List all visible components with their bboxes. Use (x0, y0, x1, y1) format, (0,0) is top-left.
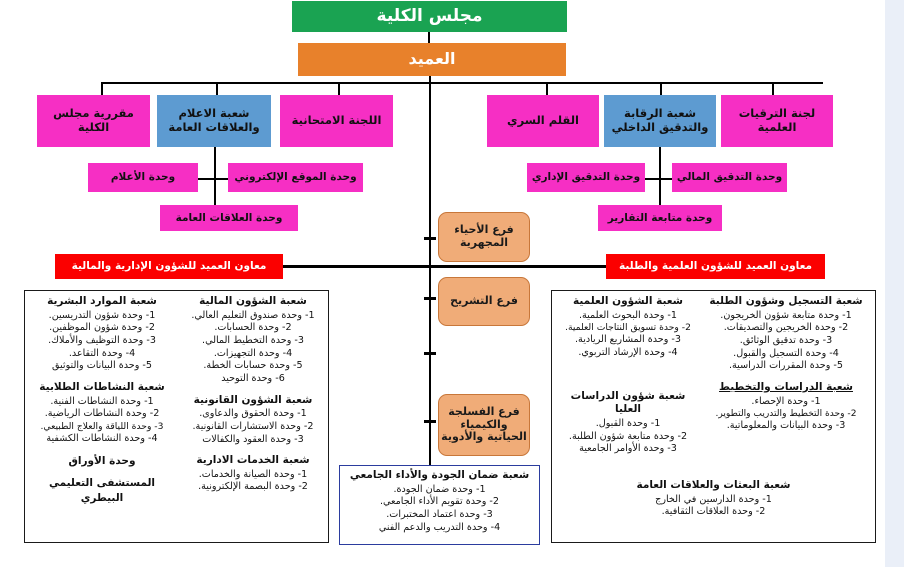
admin-panel-financial-column: شعبة الشؤون المالية 1- وحدة صندوق التعلي… (180, 295, 326, 494)
connector-dept-1 (424, 237, 436, 240)
list-item: 3- وحدة المشاريع الريادية. (556, 334, 700, 347)
list-item: 2- وحدة الحسابات. (180, 322, 326, 335)
admin-panel-hr-column: شعبة الموارد البشرية 1- وحدة شؤون التدري… (28, 295, 176, 506)
section-title-scientific-affairs: شعبة الشؤون العلمية (556, 295, 700, 309)
list-item: 4- وحدة التجهيزات. (180, 348, 326, 361)
page-edge-strip (885, 0, 904, 567)
subunit-box-reports-followup: وحدة متابعة التقارير (598, 205, 722, 231)
section-title-legal-affairs: شعبة الشؤون القانونية (180, 394, 326, 408)
list-item: 2- وحدة البصمة الإلكترونية. (180, 481, 326, 494)
list-item: 1- وحدة صندوق التعليم العالي. (180, 310, 326, 323)
list-item: 1- وحدة شؤون التدريسين. (28, 310, 176, 323)
list-item: 1- وحدة القبول. (556, 418, 700, 431)
list-item: 6- وحدة التوحيد (180, 373, 326, 386)
standalone-papers-unit: وحدة الأوراق (28, 454, 176, 469)
connector-drop-council-sec (101, 82, 103, 95)
unit-box-secret-pen: القلم السري (487, 95, 599, 147)
unit-box-internal-audit: شعبة الرقابة والتدقيق الداخلي (604, 95, 716, 147)
list-item: 1- وحدة ضمان الجودة. (343, 484, 536, 497)
section-title-registration-student-affairs: شعبة التسجيل وشؤون الطلبة (700, 295, 872, 309)
subunit-box-financial-audit: وحدة التدقيق المالي (672, 163, 787, 192)
connector-dept-3 (424, 352, 436, 355)
list-item: 1- وحدة متابعة شؤون الخريجون. (700, 310, 872, 323)
list-item: 2- وحدة النشاطات الرياضية. (28, 408, 176, 421)
unit-box-examination-committee: اللجنة الامتحانية (280, 95, 393, 147)
list-item: 3- وحدة العقود والكفالات (180, 434, 326, 447)
list-item: 2- وحدة العلاقات الثقافية. (556, 506, 871, 519)
list-item: 5- وحدة المقررات الدراسية. (700, 360, 872, 373)
list-item: 3- وحدة الأوامر الجامعية (556, 443, 700, 456)
department-box-microbiology: فرع الأحياء المجهرية (438, 212, 530, 262)
connector-media-branch (197, 178, 231, 180)
unit-box-media-public-relations: شعبة الاعلام والعلاقات العامة (157, 95, 271, 147)
list-item: 3- وحدة اعتماد المختبرات. (343, 509, 536, 522)
subunit-box-media: وحدة الأعلام (88, 163, 198, 192)
connector-drop-secret-pen (546, 82, 548, 95)
list-item: 3- وحدة التخطيط المالي. (180, 335, 326, 348)
connector-top-bus (101, 82, 823, 84)
section-title-higher-studies-affairs: شعبة شؤون الدراسات العليا (556, 390, 700, 417)
connector-drop-exam (338, 82, 340, 95)
connector-drop-media (216, 82, 218, 95)
list-item: 2- وحدة الخريجين والتصديقات. (700, 322, 872, 335)
scientific-panel-registration-column: شعبة التسجيل وشؤون الطلبة 1- وحدة متابعة… (700, 295, 872, 433)
college-council-box: مجلس الكلية (292, 1, 567, 32)
list-item: 4- وحدة التسجيل والقبول. (700, 348, 872, 361)
unit-box-scientific-promotions: لجنة الترقيات العلمية (721, 95, 833, 147)
subunit-box-website: وحدة الموقع الإلكتروني (228, 163, 363, 192)
list-item: 2- وحدة تسويق النتاجات العلمية. (556, 322, 700, 334)
list-item: 4- وحدة التقاعد. (28, 348, 176, 361)
section-title-quality-assurance: شعبة ضمان الجودة والأداء الجامعي (343, 469, 536, 483)
connector-council-dean (428, 32, 430, 43)
assistant-scientific-students-box: معاون العميد للشؤون العلمية والطلبة (606, 254, 825, 279)
section-title-administrative-services: شعبة الخدمات الادارية (180, 454, 326, 468)
standalone-veterinary-teaching-hospital: المستشفى التعليمي البيطري (28, 476, 176, 505)
list-item: 4- وحدة التدريب والدعم الفني (343, 522, 536, 535)
list-item: 3- وحدة تدقيق الوثائق. (700, 335, 872, 348)
connector-dept-2 (424, 297, 436, 300)
list-item: 5- وحدة حسابات الخطة. (180, 360, 326, 373)
connector-dept-4 (424, 420, 436, 423)
department-box-anatomy: فرع التشريح (438, 277, 530, 326)
list-item: 2- وحدة التخطيط والتدريب والتطوير. (700, 408, 872, 420)
quality-assurance-content: شعبة ضمان الجودة والأداء الجامعي 1- وحدة… (343, 469, 536, 534)
list-item: 1- وحدة البحوث العلمية. (556, 310, 700, 323)
connector-audit-branch (641, 178, 676, 180)
unit-box-college-council-secretariat: مقررية مجلس الكلية (37, 95, 150, 147)
list-item: 2- وحدة متابعة شؤون الطلبة. (556, 431, 700, 444)
list-item: 3- وحدة البيانات والمعلوماتية. (700, 420, 872, 433)
department-box-physiology-biochemistry-pharmacology: فرع الفسلجة والكيمياء الحياتية والأدوية (438, 394, 530, 456)
scientific-panel-scholarships-section: شعبة البعثات والعلاقات العامة 1- وحدة ال… (556, 479, 871, 519)
section-title-scholarships-public-relations: شعبة البعثات والعلاقات العامة (556, 479, 871, 493)
list-item: 4- وحدة النشاطات الكشفية (28, 433, 176, 446)
list-item: 3- وحدة التوظيف والأملاك. (28, 335, 176, 348)
connector-drop-audit (660, 82, 662, 95)
list-item: 1- وحدة الدارسين في الخارج (556, 494, 871, 507)
section-title-human-resources: شعبة الموارد البشرية (28, 295, 176, 309)
list-item: 2- وحدة الاستشارات القانونية. (180, 421, 326, 434)
org-chart-canvas: مجلس الكلية العميد مقررية مجلس الكلية شع… (0, 0, 904, 567)
scientific-panel-science-column: شعبة الشؤون العلمية 1- وحدة البحوث العلم… (556, 295, 700, 456)
list-item: 1- وحدة الإحصاء. (700, 396, 872, 409)
list-item: 3- وحدة اللياقة والعلاج الطبيعي. (28, 421, 176, 433)
assistant-admin-financial-box: معاون العميد للشؤون الإدارية والمالية (55, 254, 283, 279)
list-item: 5- وحدة البيانات والتوثيق (28, 360, 176, 373)
subunit-box-administrative-audit: وحدة التدقيق الإداري (527, 163, 645, 192)
list-item: 1- وحدة الحقوق والدعاوى. (180, 408, 326, 421)
connector-drop-promotions (772, 82, 774, 95)
dean-box: العميد (298, 43, 566, 76)
list-item: 2- وحدة شؤون الموظفين. (28, 322, 176, 335)
section-title-student-activities: شعبة النشاطات الطلابية (28, 381, 176, 395)
subunit-box-public-relations: وحدة العلاقات العامة (160, 205, 298, 231)
list-item: 1- وحدة النشاطات الفنية. (28, 396, 176, 409)
list-item: 4- وحدة الإرشاد التربوي. (556, 347, 700, 360)
section-title-studies-planning: شعبة الدراسات والتخطيط (700, 381, 872, 395)
section-title-financial-affairs: شعبة الشؤون المالية (180, 295, 326, 309)
list-item: 2- وحدة تقويم الأداء الجامعي. (343, 496, 536, 509)
list-item: 1- وحدة الصيانة والخدمات. (180, 469, 326, 482)
